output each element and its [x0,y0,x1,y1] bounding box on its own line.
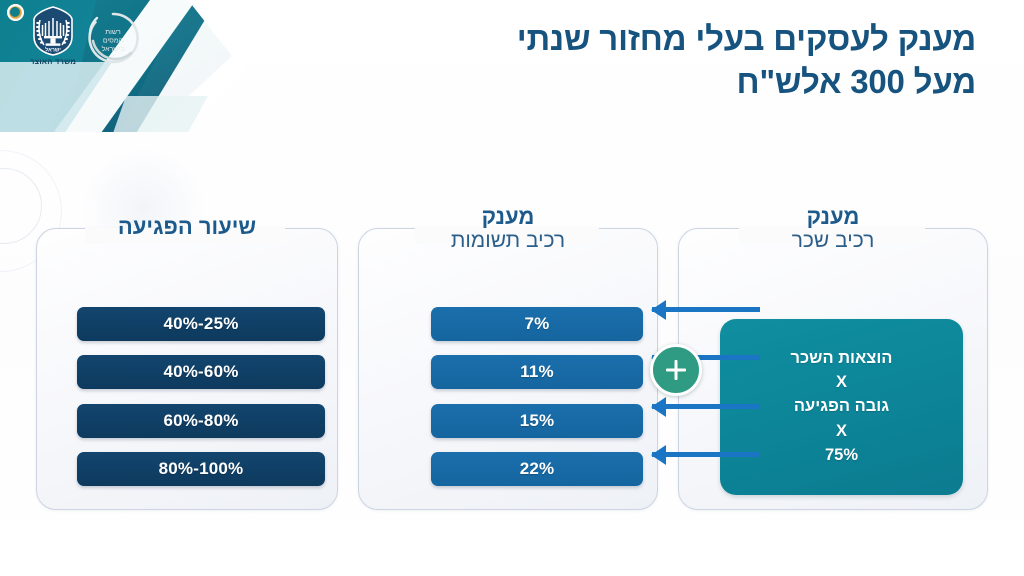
card-inputs-grant: מענק רכיב תשומות 7% 11% 15% 22% [358,228,658,510]
grant-rate-bar: 11% [431,355,643,389]
range-bar: 80%-100% [77,452,325,486]
state-emblem-group: ישראל משרד האוצר [26,6,80,66]
card-salary-grant: מענק רכיב שכר הוצאות השכר X גובה הפגיעה … [678,228,988,510]
card-inputs-grant-title: מענק [359,205,657,228]
tax-authority-circle-icon: רשות המסים בישראל [84,9,142,67]
card-label-notch [85,228,285,244]
grant-rate-bar: 22% [431,452,643,486]
emblem-shield-text: ישראל [45,46,61,53]
ta-logo-line2: המסים [103,38,123,45]
formula-operator-1: X [836,371,847,394]
plus-connector-icon [650,344,702,396]
formula-percentage: 75% [825,444,858,467]
tax-authority-logo: רשות המסים בישראל [84,9,142,67]
diagram-board: שיעור הפגיעה 40%-25% 40%-60% 60%-80% 80%… [0,214,1024,504]
flow-arrow [652,452,760,457]
corner-round-mark-icon [7,4,24,21]
card-label-notch [415,228,599,244]
grant-rate-bar: 15% [431,404,643,438]
formula-operator-2: X [836,420,847,443]
ta-logo-line3: בישראל [102,45,125,53]
formula-salary-expenses: הוצאות השכר [791,347,893,370]
range-bar: 40%-60% [77,355,325,389]
card-label-notch [739,228,925,244]
card-salary-grant-title: מענק [679,205,987,228]
card-damage-rate: שיעור הפגיעה 40%-25% 40%-60% 60%-80% 80%… [36,228,338,510]
slide-root: ישראל משרד האוצר רשות המסים בישראל מענק … [0,0,1024,576]
title-line-1: מענק לעסקים בעלי מחזור שנתי [356,18,976,61]
flow-arrow [652,307,760,312]
range-bar: 60%-80% [77,404,325,438]
flow-arrow [652,404,760,409]
title-line-2: מעל 300 אלש"ח [356,61,976,104]
range-bar: 40%-25% [77,307,325,341]
ministry-of-finance-label: משרד האוצר [26,57,80,66]
grant-rate-bar: 7% [431,307,643,341]
israel-emblem-icon: ישראל [32,6,74,56]
slide-title: מענק לעסקים בעלי מחזור שנתי מעל 300 אלש"… [356,18,976,104]
formula-damage-amount: גובה הפגיעה [794,395,889,418]
ta-logo-line1: רשות [105,29,121,36]
